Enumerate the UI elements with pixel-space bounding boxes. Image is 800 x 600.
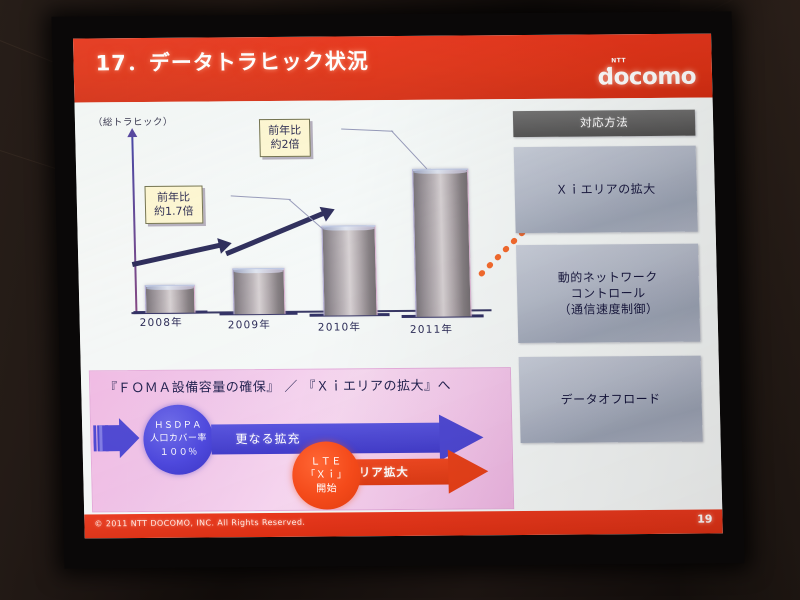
page-title: 17．データトラヒック状況 <box>95 45 369 77</box>
y-axis-label: （総トラヒック） <box>93 114 173 129</box>
measure-box-data-offload[interactable]: データオフロード <box>519 356 703 443</box>
docomo-wordmark: docomo <box>597 64 696 91</box>
x-tick-2008: 2008年 <box>140 315 184 330</box>
hsdpa-line2: 人口カバー率 <box>150 433 207 446</box>
slide-header: 17．データトラヒック状況 NTT docomo <box>73 34 713 103</box>
callout-2-leader <box>341 128 393 131</box>
callout-1-line1: 前年比 <box>154 191 194 205</box>
ntt-supertext: NTT <box>611 57 626 64</box>
growth-arrow-2008-2009 <box>132 242 223 267</box>
measure-dnc-line3: （通信速度制御） <box>558 301 658 318</box>
measures-column: 対応方法 Ｘｉエリアの拡大 動的ネットワーク コントロール （通信速度制御） デ… <box>507 110 712 503</box>
lte-line2: 「Ｘｉ」 <box>305 469 347 483</box>
strategy-panel: 『ＦＯＭＡ設備容量の確保』 ／ 『Ｘｉエリアの拡大』へ ＨＳＤＰＡ 人口カバー率… <box>89 367 514 512</box>
red-arrow-head-icon <box>448 449 489 493</box>
bar-2011 <box>412 168 471 316</box>
measure-box-xi-area[interactable]: Ｘｉエリアの拡大 <box>514 146 698 233</box>
callout-2-line2: 約2倍 <box>268 138 301 152</box>
bar-2009 <box>232 268 285 314</box>
bar-2010 <box>321 225 377 315</box>
x-tick-2011: 2011年 <box>410 322 454 337</box>
lte-line1: ＬＴＥ <box>310 455 342 469</box>
presentation-slide: 17．データトラヒック状況 NTT docomo （総トラヒック） <box>73 34 723 539</box>
callout-1-line2: 約1.7倍 <box>154 204 194 218</box>
slide-footer: © 2011 NTT DOCOMO, INC. All Rights Reser… <box>84 509 723 538</box>
measure-dnc-line1: 動的ネットワーク <box>558 269 658 286</box>
y-axis <box>131 136 137 313</box>
measures-header: 対応方法 <box>513 110 696 137</box>
callout-2: 前年比 約2倍 <box>259 119 311 157</box>
hsdpa-line1: ＨＳＤＰＡ <box>154 420 202 433</box>
callout-1-leader <box>231 195 291 200</box>
logo-dot-icon <box>606 67 610 71</box>
lte-line3: 開始 <box>316 482 337 496</box>
page-number: 19 <box>697 513 713 526</box>
copyright-text: © 2011 NTT DOCOMO, INC. All Rights Reser… <box>94 518 305 529</box>
lte-xi-circle: ＬＴＥ 「Ｘｉ」 開始 <box>292 441 362 510</box>
measure-xi-area-label: Ｘｉエリアの拡大 <box>555 181 655 198</box>
measure-data-offload-label: データオフロード <box>560 391 660 408</box>
callout-2-line1: 前年比 <box>268 124 301 138</box>
slide-body: （総トラヒック） 2008年 2009年 2010年 2011年 <box>74 98 722 515</box>
traffic-bar-chart: （総トラヒック） 2008年 2009年 2010年 2011年 <box>83 109 509 362</box>
docomo-logo: NTT docomo <box>597 64 696 91</box>
hsdpa-line3: １００％ <box>160 446 198 459</box>
strategy-title: 『ＦＯＭＡ設備容量の確保』 ／ 『Ｘｉエリアの拡大』へ <box>104 375 451 397</box>
callout-1: 前年比 約1.7倍 <box>144 186 202 224</box>
projection-screen: 17．データトラヒック状況 NTT docomo （総トラヒック） <box>51 11 744 568</box>
blue-arrow-label: 更なる拡充 <box>235 430 300 448</box>
x-tick-2010: 2010年 <box>318 319 362 334</box>
bar-2008 <box>145 285 196 313</box>
callout-2-leader <box>391 130 427 169</box>
hsdpa-circle: ＨＳＤＰＡ 人口カバー率 １００％ <box>143 404 215 475</box>
x-tick-2009: 2009年 <box>228 317 272 332</box>
measure-box-dynamic-network-control[interactable]: 動的ネットワーク コントロール （通信速度制御） <box>516 244 700 343</box>
measure-dnc-line2: コントロール <box>570 285 645 302</box>
pleated-arrow-icon <box>93 415 142 461</box>
